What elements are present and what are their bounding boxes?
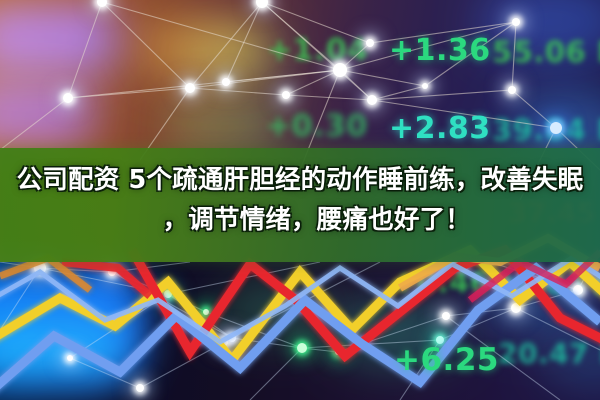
banner-image: +1.0455.06 M+0.3039.84 M37.45 M+0.4639.8… — [0, 0, 600, 400]
ticker-value: +2.83 — [389, 114, 491, 144]
ticker-value: +1.36 — [389, 36, 491, 66]
headline-line-2: ，调节情绪，腰痛也好了！ — [0, 200, 600, 240]
ticker-value: +6.25 — [394, 345, 499, 376]
headline-text: 公司配资 5个疏通肝胆经的动作睡前练，改善失眠 ，调节情绪，腰痛也好了！ — [0, 160, 600, 240]
headline-line-1: 公司配资 5个疏通肝胆经的动作睡前练，改善失眠 — [0, 160, 600, 200]
